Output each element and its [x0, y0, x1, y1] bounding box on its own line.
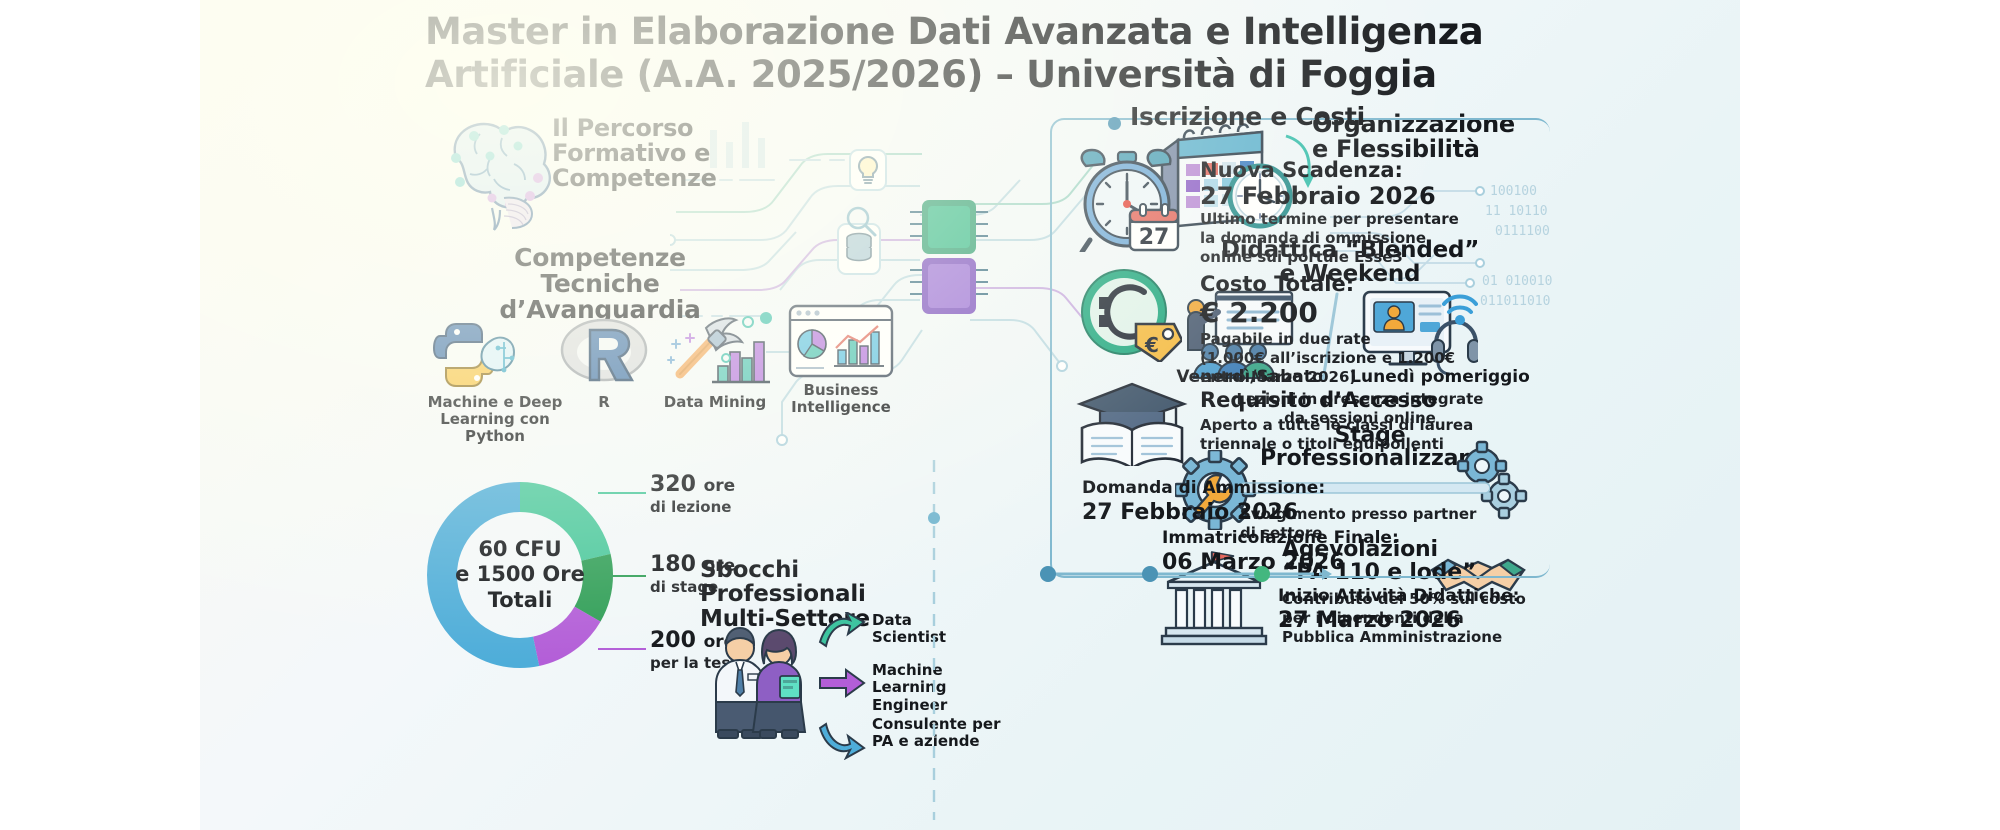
donut-leader-0	[598, 492, 646, 494]
cost-title-2: Requisito d’Accesso	[1200, 388, 1437, 412]
donut-stat-desc-0: di lezione	[650, 498, 731, 516]
cost-title-0: Nuova Scadenza:	[1200, 158, 1403, 182]
skill-label-0: Machine e Deep Learning con Python	[410, 394, 580, 444]
r-logo-icon	[560, 316, 648, 388]
pickaxe-chart-icon	[662, 308, 772, 390]
database-icon	[836, 222, 882, 276]
cost-value-0: 27 Febbraio 2026	[1200, 182, 1436, 210]
career-arrow-1	[818, 668, 866, 698]
career-arrow-0	[818, 612, 866, 650]
cost-title-1: Costo Totale:	[1200, 272, 1354, 296]
donut-leader-2	[598, 648, 646, 650]
timeline-title-1: Immatricolazione Finale:	[1162, 528, 1399, 548]
donut-leader-1	[612, 575, 646, 577]
career-label-1: Machine Learning Engineer	[872, 662, 982, 714]
poster-canvas: Master in Elaborazione Dati Avanzata e I…	[0, 0, 2000, 830]
iscrizione-bullet	[1108, 117, 1121, 130]
donut-stat-number-0: 320	[650, 472, 696, 497]
career-label-0: Data Scientist	[872, 612, 982, 647]
section-heading-percorso: Il Percorso Formativo e Competenze	[552, 116, 742, 191]
infographic-poster: Master in Elaborazione Dati Avanzata e I…	[200, 0, 1740, 830]
cost-value-1: € 2.200	[1200, 296, 1318, 329]
graduation-book-icon	[1076, 382, 1188, 466]
timeline-title-2: Inizio Attività Didattiche:	[1278, 586, 1519, 606]
magnifier-node-icon	[840, 200, 880, 240]
cost-desc-2: Aperto a tutte le classi di laurea trien…	[1200, 416, 1510, 454]
euro-tag-icon: €	[1078, 268, 1182, 362]
donut-stat-value-0: 320 ore	[650, 472, 735, 497]
timeline-title-0: Domanda di Ammissione:	[1082, 478, 1325, 498]
professionals-pair-icon	[706, 612, 816, 740]
donut-stat-unit-0: ore	[704, 476, 736, 496]
skill-label-2: Data Mining	[652, 394, 778, 411]
donut-stat-number-2: 200	[650, 628, 696, 653]
python-brain-icon	[430, 318, 522, 392]
career-arrow-2	[818, 722, 866, 760]
timeline-date-0: 27 Febbraio 2026	[1082, 500, 1298, 525]
career-label-2: Consulente per PA e aziende	[872, 716, 1002, 751]
cfu-donut-chart: 60 CFU e 1500 Ore Totali	[415, 470, 625, 680]
cost-desc-0: Ultimo termine per presentare la domanda…	[1200, 210, 1490, 266]
svg-text:€: €	[1144, 333, 1159, 357]
section-heading-iscrizione: Iscrizione e Costi	[1130, 104, 1430, 130]
timeline-date-1: 06 Marzo 2026	[1162, 550, 1345, 575]
page-title: Master in Elaborazione Dati Avanzata e I…	[425, 10, 1685, 96]
donut-stat-number-1: 180	[650, 552, 696, 577]
skill-label-3: Business Intelligence	[778, 382, 904, 416]
skill-label-1: R	[560, 394, 648, 411]
lightbulb-icon	[848, 148, 888, 192]
dashboard-chart-icon	[788, 304, 894, 384]
alarm-clock-27-icon: 27	[1072, 148, 1182, 252]
timeline-date-2: 27 Marzo 2026	[1278, 608, 1461, 633]
svg-text:27: 27	[1139, 225, 1170, 250]
cost-desc-1: Pagabile in due rate (1.000€ all’iscrizi…	[1200, 330, 1500, 386]
